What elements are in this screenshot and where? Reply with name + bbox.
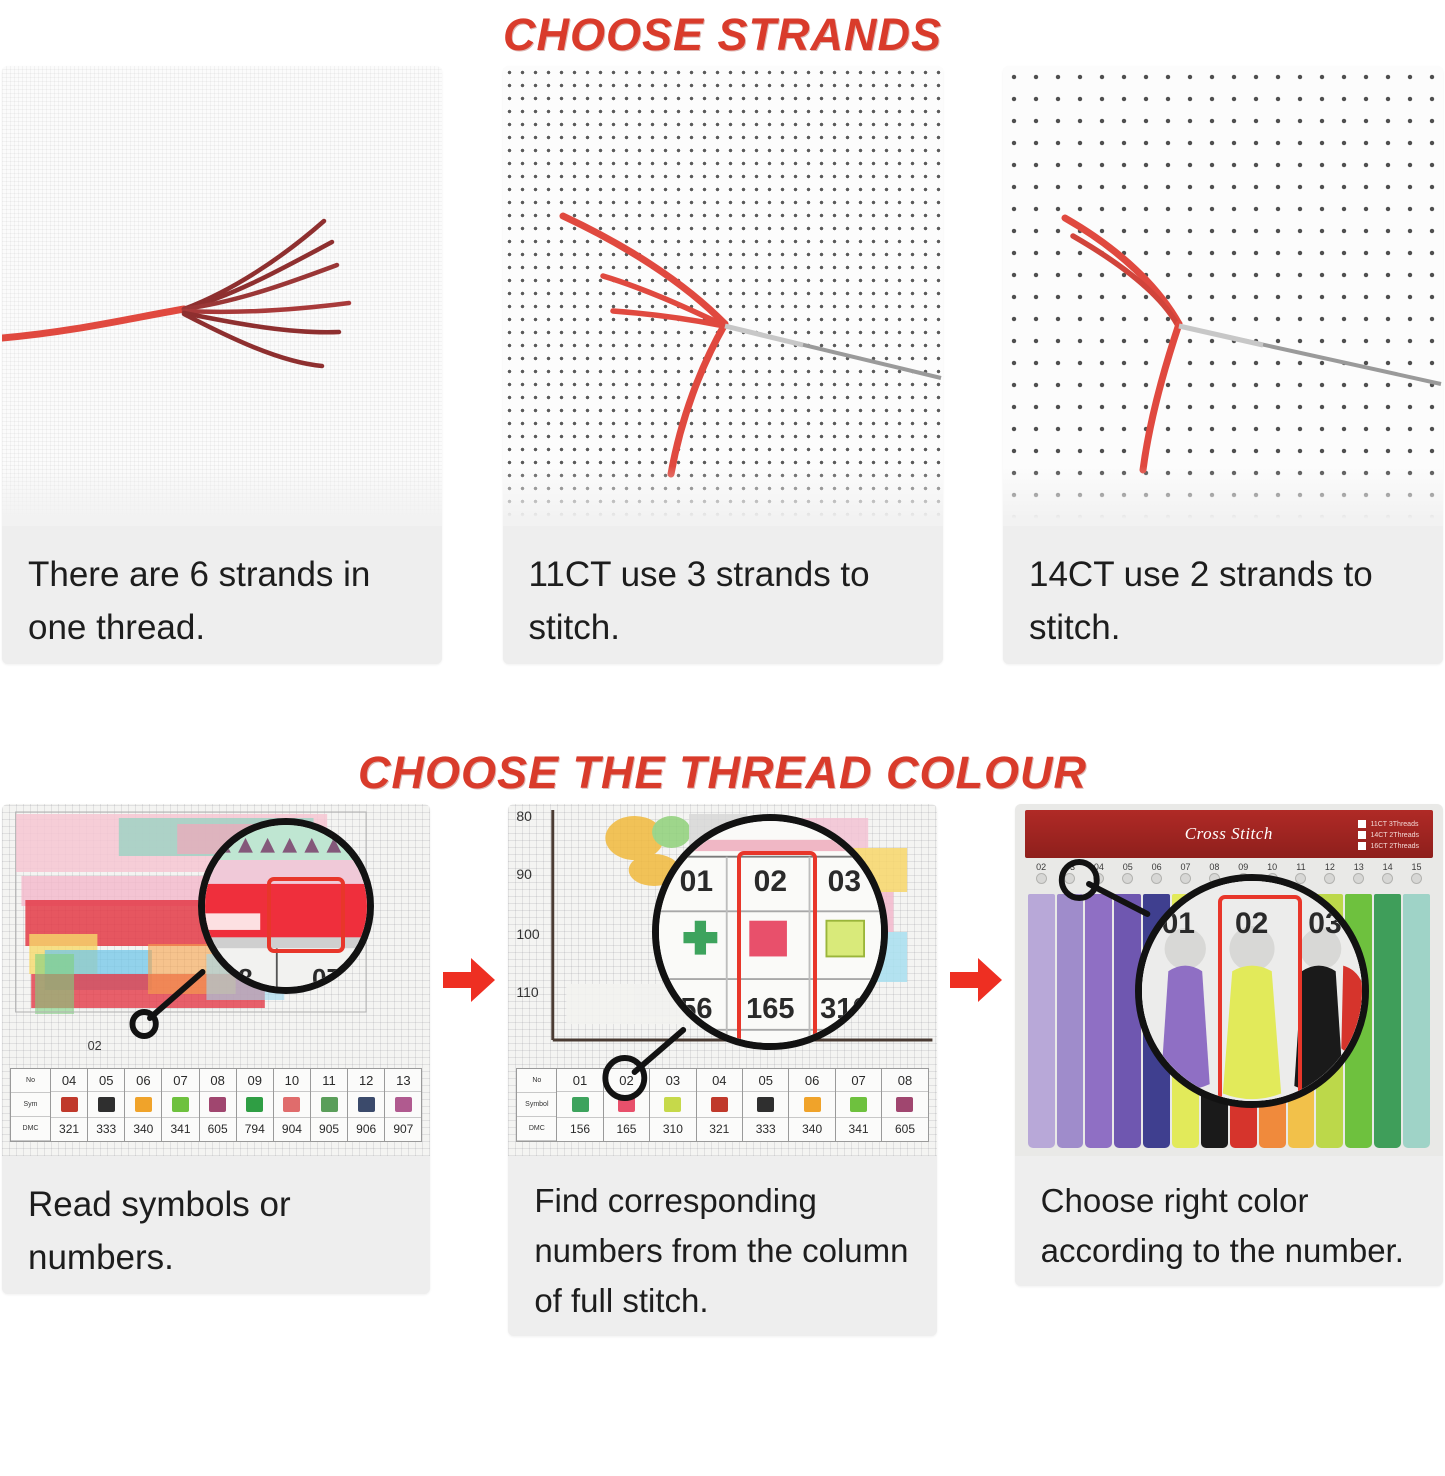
photo-thread-organizer: Cross Stitch 11CT 3Threads14CT 2Threads1… xyxy=(1015,804,1443,1156)
card-read-symbols: No Sym DMC 04321053330634007341086050979… xyxy=(2,804,430,1294)
photo-bottom-fade xyxy=(1003,466,1443,526)
caption-fourteen-ct: 14CT use 2 strands to stitch. xyxy=(1003,526,1443,664)
needle-and-two-strands-illustration xyxy=(1003,66,1443,526)
photo-bottom-fade xyxy=(503,466,943,526)
section-heading-choose-thread-colour: CHOOSE THE THREAD COLOUR xyxy=(0,734,1445,804)
caption-eleven-ct: 11CT use 3 strands to stitch. xyxy=(503,526,943,664)
photo-eleven-ct xyxy=(503,66,943,526)
thread-strands-illustration xyxy=(2,66,442,526)
photo-pattern-chart: No Sym DMC 04321053330634007341086050979… xyxy=(2,804,430,1156)
card-find-numbers: 8090100110 N xyxy=(508,804,936,1336)
photo-pattern-legend: 8090100110 N xyxy=(508,804,936,1156)
caption-six-strands: There are 6 strands in one thread. xyxy=(2,526,442,664)
magnifier-handle-left: 02 xyxy=(2,804,430,1156)
magnifier-handle-right xyxy=(1015,804,1443,1156)
colour-card-row: No Sym DMC 04321053330634007341086050979… xyxy=(0,804,1445,1414)
right-arrow-icon xyxy=(948,952,1004,1008)
needle-and-three-strands-illustration xyxy=(503,66,943,526)
arrow-two-wrap xyxy=(947,804,1005,1156)
photo-six-strands xyxy=(2,66,442,526)
section-heading-choose-strands: CHOOSE STRANDS xyxy=(0,0,1445,66)
card-fourteen-ct: 14CT use 2 strands to stitch. xyxy=(1003,66,1443,664)
card-six-strands: There are 6 strands in one thread. xyxy=(2,66,442,664)
magnifier-handle-middle xyxy=(508,804,936,1156)
card-choose-color: Cross Stitch 11CT 3Threads14CT 2Threads1… xyxy=(1015,804,1443,1286)
caption-choose-color: Choose right color according to the numb… xyxy=(1015,1156,1443,1286)
photo-bottom-fade xyxy=(2,466,442,526)
svg-text:02: 02 xyxy=(88,1038,102,1053)
photo-fourteen-ct xyxy=(1003,66,1443,526)
caption-find-numbers: Find corresponding numbers from the colu… xyxy=(508,1156,936,1336)
right-arrow-icon xyxy=(441,952,497,1008)
card-eleven-ct: 11CT use 3 strands to stitch. xyxy=(503,66,943,664)
caption-read-symbols: Read symbols or numbers. xyxy=(2,1156,430,1294)
arrow-one-wrap xyxy=(440,804,498,1156)
strands-card-row: There are 6 strands in one thread. 11CT … xyxy=(0,66,1445,734)
